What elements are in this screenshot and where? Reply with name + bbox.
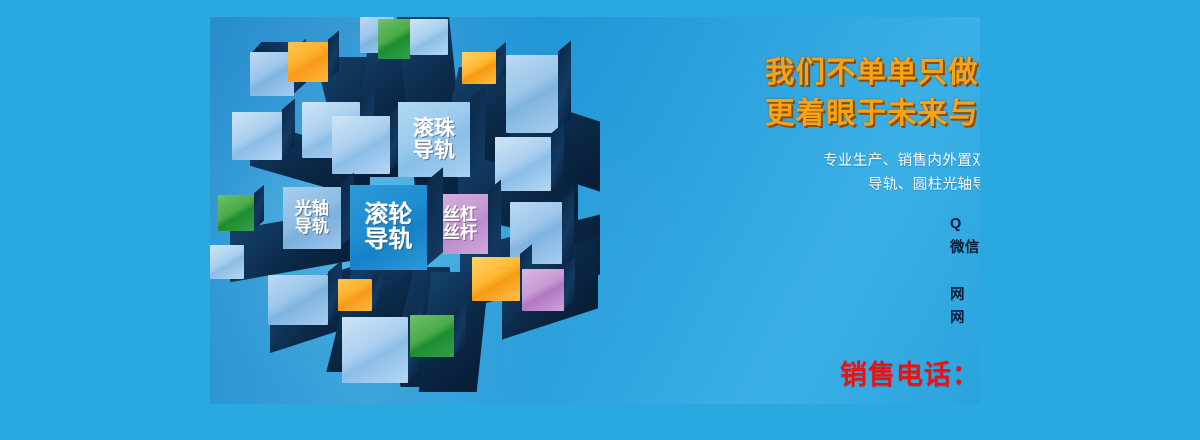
cube [268,275,328,325]
cube-label-line2: 导轨 [295,218,329,236]
cube-label-line2: 导轨 [365,228,413,253]
cube-label-line2: 导轨 [413,140,455,162]
cube [378,19,410,59]
cube [288,42,328,82]
cube [506,55,558,133]
contact-row-wechat: 微信号 ： zxdgzc （直线导轨轴承） [950,237,980,284]
cube-label-line1: 丝杠 [443,206,477,224]
cube [510,202,562,264]
cube [462,52,496,84]
cube [522,269,564,311]
cube-label-line1: 滚轮 [365,203,413,228]
exploding-cube-graphic: 滚珠 导轨 光轴 导轨 滚轮 导轨 丝杠 丝杆 [210,17,610,404]
cube-label-line1: 滚珠 [413,118,455,140]
cube [410,19,448,55]
contact-row-website-2: 网 址 ： Www.Cnzxdg.Com [950,307,980,330]
promo-banner: 滚珠 导轨 光轴 导轨 滚轮 导轨 丝杠 丝杆 我们不单单只做您目前的订单 [210,17,980,404]
sales-phone-label: 销售电话： [840,360,980,390]
contact-label: 网 址 [950,284,980,307]
cube-label-shaft-guide[interactable]: 光轴 导轨 [283,187,341,249]
cube-label-roller-guide[interactable]: 滚轮 导轨 [350,185,427,270]
product-description: 专业生产、销售内外置双轴心滚轮直线导轨、滚珠直线导轨、圆柱光轴导轨、丝杠丝杆、直… [823,150,980,197]
cube [338,279,372,311]
cube [410,315,454,357]
contact-row-website-1: 网 址 ： Www.Zxdgzc.Com [950,284,980,307]
banner-stage: 滚珠 导轨 光轴 导轨 滚轮 导轨 丝杠 丝杆 我们不单单只做您目前的订单 [0,0,1200,440]
cube [232,112,282,160]
headline-line-1: 我们不单单只做您目前的订单 [765,53,980,94]
cube [332,116,390,174]
cube-label-ball-guide[interactable]: 滚珠 导轨 [398,102,470,177]
contact-label: 网 址 [950,307,980,330]
sales-phone[interactable]: 销售电话：18357860469 [840,353,980,392]
cube [342,317,408,383]
cube [472,257,520,301]
headline-line-2: 更着眼于未来与您长期合作 [765,94,980,135]
cube [218,195,254,231]
contact-row-qq: Q Q ： 80286553 [950,213,980,236]
banner-copy: 我们不单单只做您目前的订单 更着眼于未来与您长期合作 专业生产、销售内外置双轴心… [765,53,980,392]
cube-label-line1: 光轴 [295,200,329,218]
contact-label: Q Q [950,213,980,236]
cube [210,245,244,279]
cube [495,137,551,191]
contact-label: 微信号 [950,237,980,260]
contact-block: Q Q ： 80286553 微信号 ： zxdgzc （直线导轨轴承） 网 址 [950,213,980,330]
cube-label-line2: 丝杆 [443,224,477,242]
